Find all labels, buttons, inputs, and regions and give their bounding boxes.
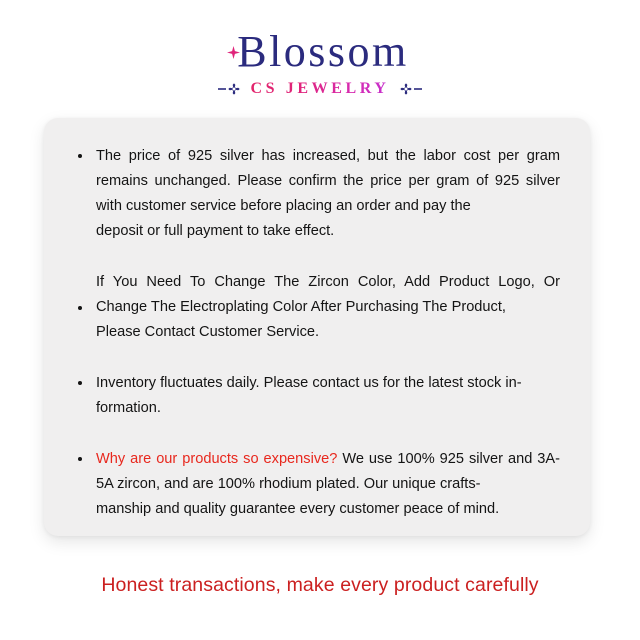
brand-wordmark-text: Blossom — [237, 27, 409, 76]
bullet-dot-icon — [78, 154, 82, 158]
snowflake-ornament-icon — [398, 82, 422, 96]
list-item: The price of 925 silver has increased, b… — [72, 144, 560, 244]
list-item: Inventory fluctuates daily. Please conta… — [72, 371, 560, 421]
bullet-dot-icon — [78, 306, 82, 310]
list-item-text: The price of 925 silver has increased, b… — [96, 148, 560, 214]
footer-slogan: Honest transactions, make every product … — [0, 572, 640, 598]
snowflake-ornament-icon — [218, 82, 242, 96]
list-item-last-line: Please Contact Customer Service. — [96, 320, 560, 345]
brand-header: Blossom CS JEWELRY — [0, 0, 640, 97]
list-item-last-line: deposit or full payment to take effect. — [96, 219, 560, 244]
brand-tagline-text: CS JEWELRY — [248, 81, 391, 97]
brand-tagline-row: CS JEWELRY — [0, 81, 640, 97]
list-item: If You Need To Change The Zircon Color, … — [72, 270, 560, 345]
bullet-dot-icon — [78, 381, 82, 385]
list-item-highlight: Why are our products so expensive? — [96, 451, 337, 467]
list-item-last-line: formation. — [96, 396, 560, 421]
list-item-text: Inventory fluctuates daily. Please conta… — [96, 375, 522, 391]
notice-bullet-list: The price of 925 silver has increased, b… — [72, 144, 560, 522]
sparkle-diamond-icon — [227, 46, 240, 59]
notice-card: The price of 925 silver has increased, b… — [44, 118, 590, 536]
list-item-body: The price of 925 silver has increased, b… — [96, 144, 560, 244]
list-item-body: Why are our products so expensive? We us… — [96, 447, 560, 522]
list-item-last-line: manship and quality guarantee every cust… — [96, 497, 560, 522]
bullet-dot-icon — [78, 457, 82, 461]
list-item-body: Inventory fluctuates daily. Please conta… — [96, 371, 560, 421]
list-item-body: If You Need To Change The Zircon Color, … — [96, 270, 560, 345]
list-item: Why are our products so expensive? We us… — [72, 447, 560, 522]
list-item-text: If You Need To Change The Zircon Color, … — [96, 274, 560, 315]
brand-wordmark: Blossom — [231, 30, 409, 74]
